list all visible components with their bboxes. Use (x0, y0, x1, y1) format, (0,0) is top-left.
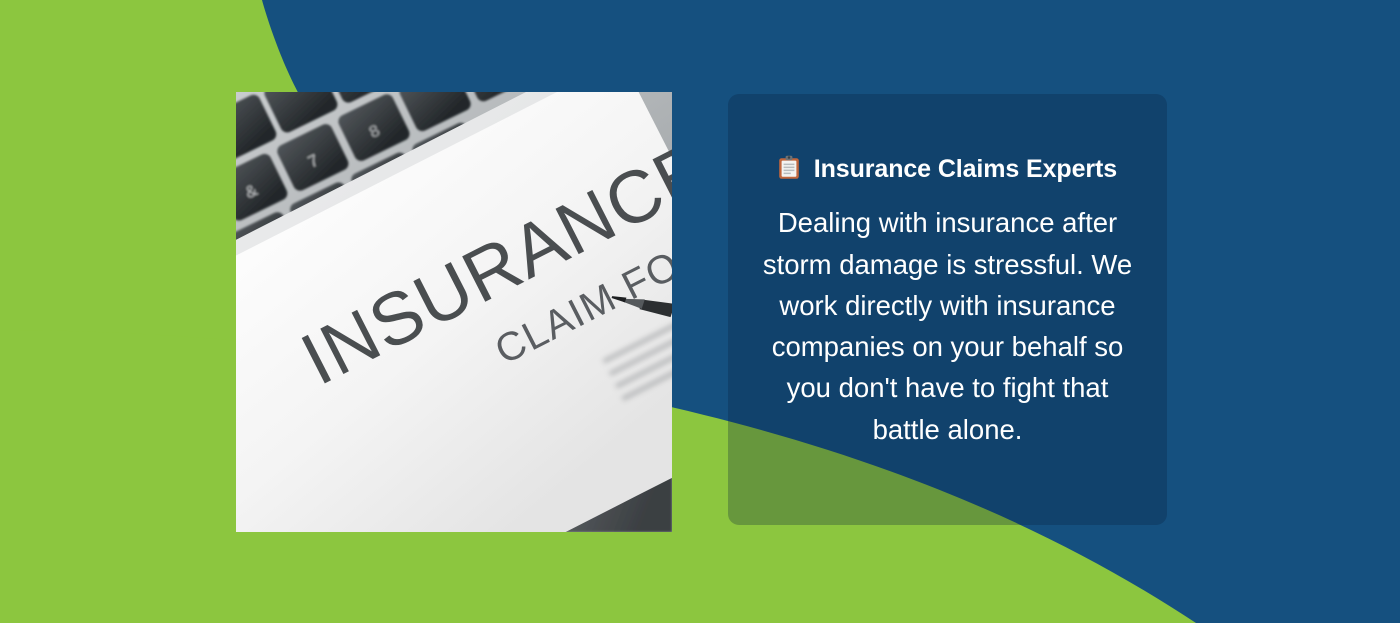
card-body-line: Dealing with insurance after (756, 202, 1139, 243)
photo-artwork: 6 & 7 8 T Y U (236, 92, 672, 532)
insurance-claim-photo: 6 & 7 8 T Y U (236, 92, 672, 532)
card-body-line: companies on your behalf so (756, 326, 1139, 367)
background-decoration (0, 0, 1400, 623)
clipboard-icon (778, 155, 800, 188)
card-body-line: you don't have to fight that (756, 367, 1139, 408)
card-body-line: storm damage is stressful. We (756, 244, 1139, 285)
card-body: Dealing with insurance after storm damag… (756, 202, 1139, 450)
card-heading: Insurance Claims Experts (756, 154, 1139, 188)
card-heading-text: Insurance Claims Experts (814, 155, 1117, 183)
insurance-claims-info-card: Insurance Claims Experts Dealing with in… (728, 94, 1167, 525)
card-body-line: battle alone. (756, 409, 1139, 450)
card-body-line: work directly with insurance (756, 285, 1139, 326)
promo-banner: 6 & 7 8 T Y U (0, 0, 1400, 623)
